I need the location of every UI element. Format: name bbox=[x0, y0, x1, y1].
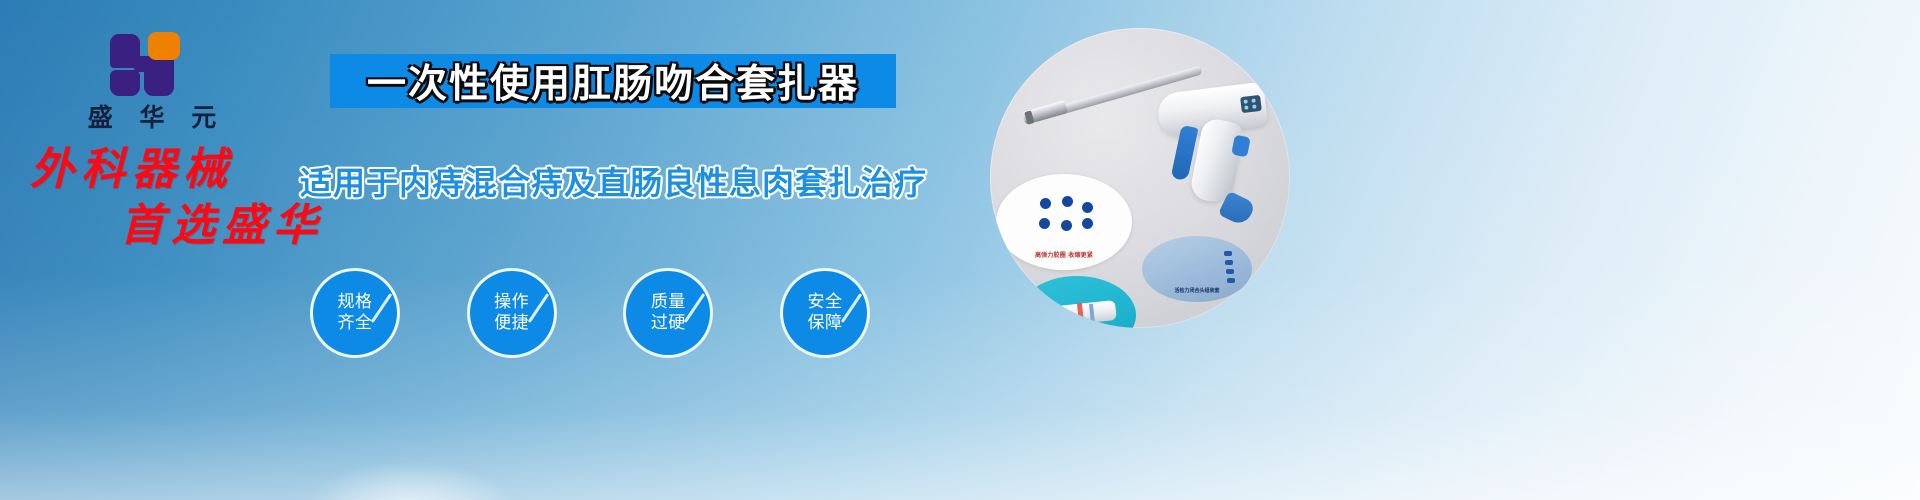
band-dot bbox=[1082, 202, 1093, 213]
panel-led-1 bbox=[1243, 99, 1247, 103]
feature-badge-quality[interactable]: 质量 过硬 bbox=[623, 268, 713, 358]
device-button bbox=[1231, 135, 1251, 158]
feature-label-line-2: 便捷 bbox=[494, 313, 529, 334]
feature-label-line-1: 操作 bbox=[494, 292, 529, 313]
feature-badge-operation[interactable]: 操作 便捷 bbox=[467, 268, 557, 358]
needle-hub bbox=[1224, 251, 1232, 256]
band-dot bbox=[1062, 196, 1073, 207]
inset-bands-caption: 高弹力胶圈 收缩更紧 bbox=[1014, 250, 1114, 259]
product-title-bar: 一次性使用肛肠吻合套扎器 bbox=[330, 54, 896, 108]
panel-led-2 bbox=[1251, 98, 1255, 102]
shenghuayuan-logo-mark-icon bbox=[104, 26, 200, 98]
product-title: 一次性使用肛肠吻合套扎器 bbox=[330, 53, 896, 109]
needle-hub bbox=[1227, 278, 1235, 283]
feature-badge-specification[interactable]: 规格 齐全 bbox=[310, 268, 400, 358]
logo-shape-lower-left bbox=[110, 70, 140, 96]
slash-accent-icon bbox=[684, 293, 705, 323]
brand-logo[interactable]: 盛 华 元 bbox=[62, 26, 242, 132]
needle-hub bbox=[1225, 260, 1233, 265]
panel-led-3 bbox=[1244, 105, 1248, 109]
band-dot bbox=[1082, 218, 1093, 229]
logo-shape-orange-square bbox=[148, 32, 180, 60]
panel-led-4 bbox=[1252, 104, 1256, 108]
inset-needle-set: 活检力闭合头组装套 bbox=[1142, 236, 1252, 302]
feature-label-line-2: 保障 bbox=[807, 313, 842, 334]
brand-name: 盛 华 元 bbox=[62, 104, 242, 132]
promo-banner: 盛 华 元 外科器械 首选盛华 一次性使用肛肠吻合套扎器 适用于内痔混合痔及直肠… bbox=[0, 0, 1920, 500]
background-glow bbox=[300, 460, 520, 500]
feature-label-line-2: 过硬 bbox=[651, 313, 686, 334]
feature-label-line-1: 质量 bbox=[651, 292, 686, 313]
slogan-line-2: 首选盛华 bbox=[120, 204, 436, 248]
slash-accent-icon bbox=[527, 293, 548, 323]
feature-label-line-1: 规格 bbox=[338, 292, 373, 313]
feature-badges: 规格 齐全 操作 便捷 质量 过硬 安全 保障 bbox=[310, 268, 870, 364]
logo-shape-right bbox=[144, 56, 174, 96]
needle-hub bbox=[1226, 269, 1234, 274]
needle bbox=[1166, 278, 1230, 280]
inset-needles-caption: 活检力闭合头组装套 bbox=[1142, 287, 1252, 294]
feature-label-line-2: 齐全 bbox=[338, 313, 373, 334]
feature-label-line-1: 安全 bbox=[807, 292, 842, 313]
band-dot bbox=[1039, 218, 1050, 229]
device-control-panel bbox=[1240, 95, 1262, 113]
feature-badge-safety[interactable]: 安全 保障 bbox=[780, 268, 870, 358]
band-dot bbox=[1061, 220, 1072, 231]
product-photo: 高弹力胶圈 收缩更紧 活检力闭合头组装套 bbox=[990, 28, 1290, 328]
band-dot bbox=[1040, 198, 1051, 209]
inset-cartridge bbox=[1018, 276, 1136, 328]
slash-accent-icon bbox=[371, 293, 392, 323]
inset-rubber-bands: 高弹力胶圈 收缩更紧 bbox=[996, 174, 1132, 270]
product-subtitle: 适用于内痔混合痔及直肠良性息肉套扎治疗 bbox=[300, 158, 920, 204]
slash-accent-icon bbox=[841, 293, 862, 323]
needle bbox=[1166, 268, 1230, 274]
